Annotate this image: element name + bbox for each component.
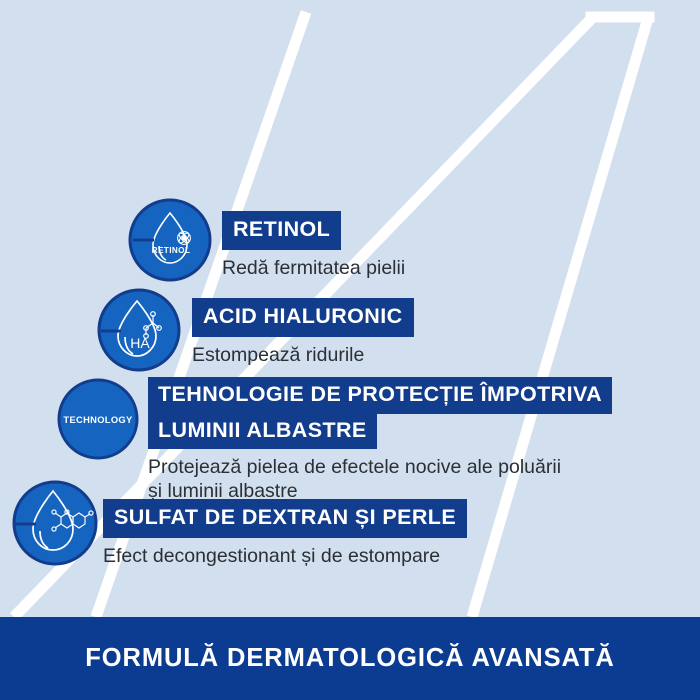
ha-icon-caption: HA [130, 335, 150, 351]
retinol-icon-caption: RETINOL [152, 246, 191, 255]
tehnologie-subtitle: Protejează pielea de efectele nocive ale… [148, 456, 612, 504]
feature-acid-hialuronic: ACID HIALURONIC Estompează ridurile [192, 298, 414, 367]
footer-text: FORMULĂ DERMATOLOGICĂ AVANSATĂ [85, 644, 614, 673]
sulfat-dextran-subtitle: Efect decongestionant și de estompare [103, 545, 467, 569]
tehnologie-title-line2-wrap: LUMINII ALBASTRE [148, 413, 612, 450]
hyaluronic-acid-droplet-icon: HA [96, 287, 182, 373]
dextran-sulfate-droplet-icon [11, 479, 99, 567]
technology-circle-icon: TECHNOLOGY [56, 377, 140, 461]
tehnologie-title-line1-wrap: TEHNOLOGIE DE PROTECȚIE ÎMPOTRIVA [148, 377, 612, 414]
sulfat-dextran-title-wrap: SULFAT DE DEXTRAN ȘI PERLE [103, 499, 467, 538]
tehnologie-title-line2: LUMINII ALBASTRE [148, 413, 377, 450]
retinol-subtitle: Redă fermitatea pielii [222, 257, 405, 281]
feature-retinol: RETINOL Redă fermitatea pielii [222, 211, 405, 280]
retinol-title-wrap: RETINOL [222, 211, 405, 250]
feature-sulfat-dextran: SULFAT DE DEXTRAN ȘI PERLE Efect deconge… [103, 499, 467, 568]
footer-banner: FORMULĂ DERMATOLOGICĂ AVANSATĂ [0, 617, 700, 700]
infographic-panel: RETINOL RETINOL Redă fermitatea pielii H… [0, 0, 700, 700]
acid-hialuronic-subtitle: Estompează ridurile [192, 344, 414, 368]
acid-hialuronic-title: ACID HIALURONIC [192, 298, 414, 337]
sulfat-dextran-title: SULFAT DE DEXTRAN ȘI PERLE [103, 499, 467, 538]
technology-icon-caption: TECHNOLOGY [63, 414, 133, 425]
feature-tehnologie: TEHNOLOGIE DE PROTECȚIE ÎMPOTRIVA LUMINI… [148, 377, 612, 504]
retinol-droplet-icon: RETINOL [127, 197, 213, 283]
retinol-title: RETINOL [222, 211, 341, 250]
tehnologie-title-line1: TEHNOLOGIE DE PROTECȚIE ÎMPOTRIVA [148, 377, 612, 414]
acid-hialuronic-title-wrap: ACID HIALURONIC [192, 298, 414, 337]
